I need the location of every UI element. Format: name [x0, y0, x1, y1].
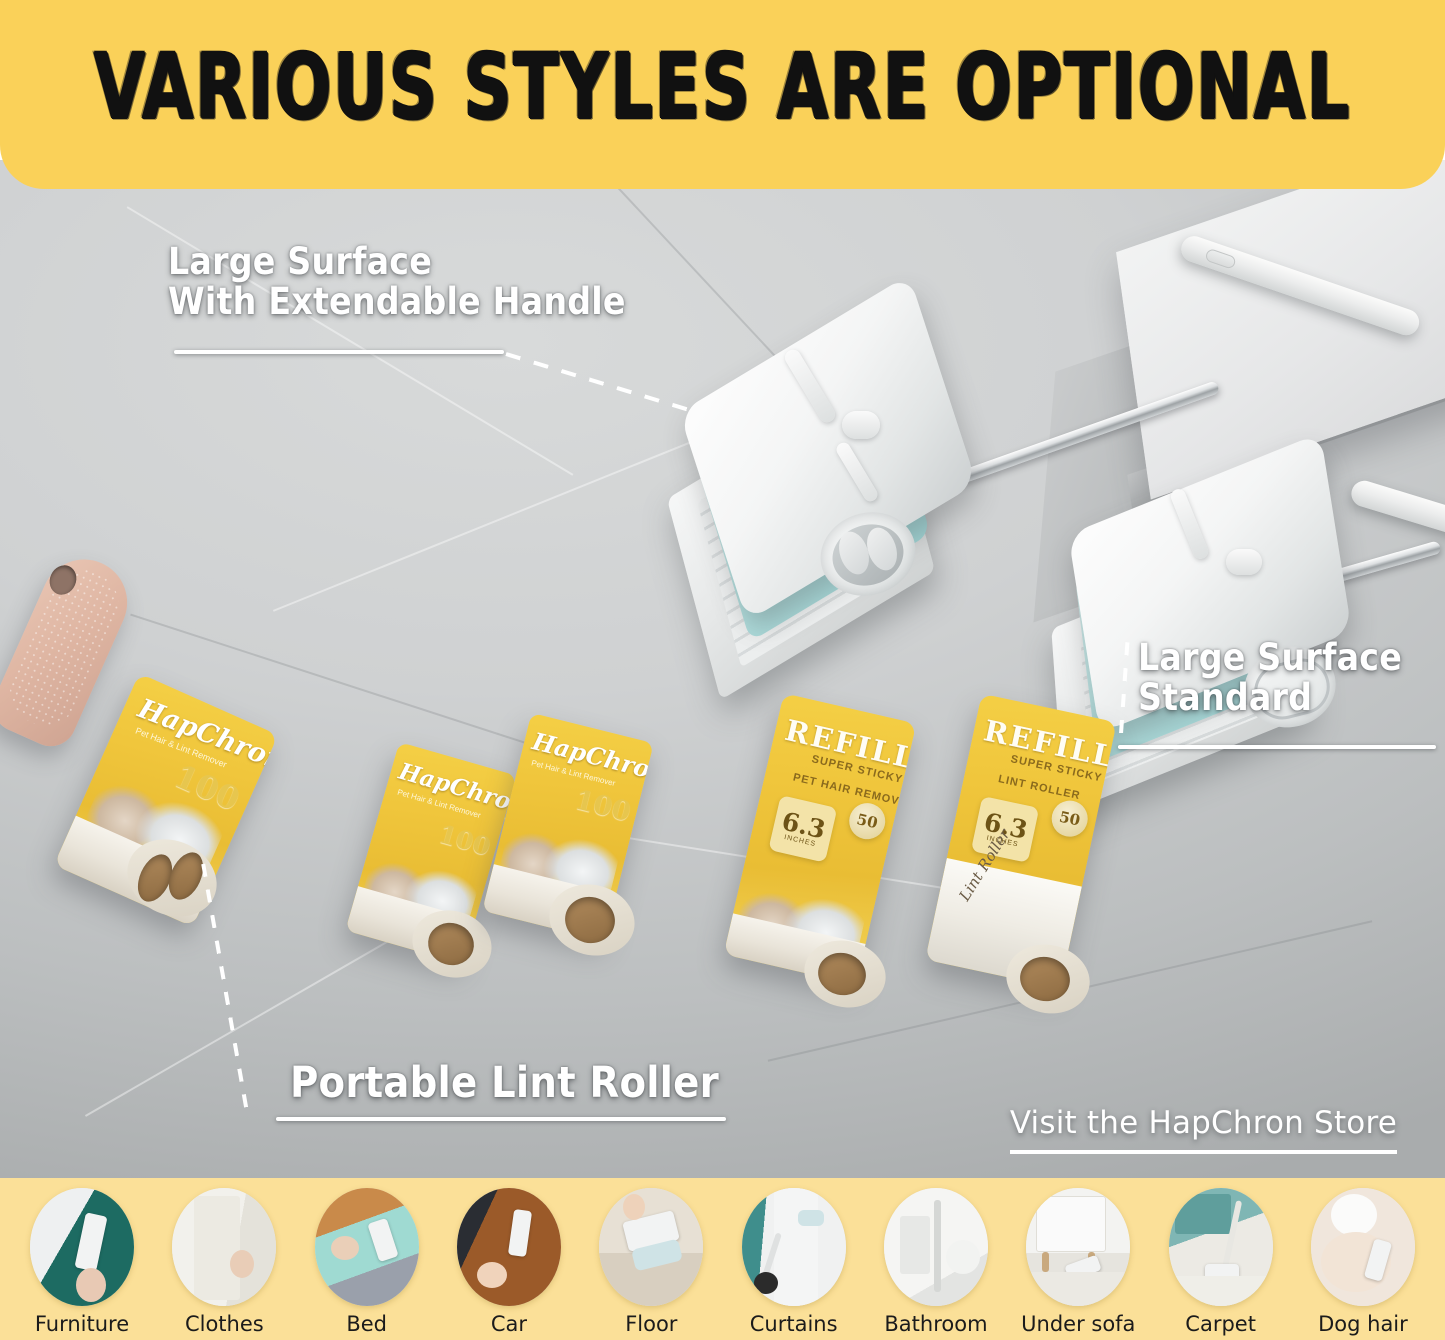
roller-rod-mount — [842, 411, 880, 439]
callout-leader-line — [505, 352, 697, 414]
use-case-dog-hair[interactable]: Dog hair — [1297, 1188, 1429, 1336]
product-infographic: HapChron Pet Hair & Lint Remover 100 Hap… — [0, 0, 1445, 1340]
use-case-under-sofa[interactable]: Under sofa — [1012, 1188, 1144, 1336]
under-sofa-thumbnail — [1026, 1188, 1130, 1306]
refill-body: REFILL SUPER STICKY LINT ROLLER 6.3 INCH… — [925, 694, 1117, 989]
use-case-label: Under sofa — [1021, 1312, 1135, 1336]
use-case-label: Clothes — [185, 1312, 264, 1336]
roller-rod-mount — [1226, 549, 1262, 575]
use-case-label: Furniture — [35, 1312, 129, 1336]
refill-sheet-count: 50 — [855, 810, 879, 832]
sheet-count-badge: 100 — [572, 784, 634, 828]
use-case-car[interactable]: Car — [443, 1188, 575, 1336]
page-title: VARIOUS STYLES ARE OPTIONAL — [22, 34, 1424, 139]
callout-line-2: With Extendable Handle — [168, 282, 626, 322]
use-case-label: Curtains — [750, 1312, 838, 1336]
callout-line-2: Standard — [1138, 678, 1402, 718]
header-banner: VARIOUS STYLES ARE OPTIONAL — [0, 0, 1445, 189]
refill-sheet-count: 50 — [1058, 808, 1082, 830]
bathroom-thumbnail — [884, 1188, 988, 1306]
large-surface-roller-extendable — [672, 335, 1002, 665]
bed-thumbnail — [315, 1188, 419, 1306]
callout-line-1: Portable Lint Roller — [290, 1060, 719, 1106]
use-case-label: Carpet — [1185, 1312, 1256, 1336]
refill-sheet-count-badge: 50 — [846, 800, 889, 843]
use-case-bed[interactable]: Bed — [301, 1188, 433, 1336]
use-case-bathroom[interactable]: Bathroom — [870, 1188, 1002, 1336]
use-case-strip: Furniture Clothes Bed Car — [0, 1178, 1445, 1340]
carpet-thumbnail — [1169, 1188, 1273, 1306]
callout-underline — [1118, 745, 1436, 749]
use-case-label: Dog hair — [1318, 1312, 1408, 1336]
hapchron-refill-roll-2: HapChron Pet Hair & Lint Remover 100 — [505, 725, 705, 1005]
portable-lint-roller: HapChron Pet Hair & Lint Remover 100 — [8, 555, 308, 905]
use-case-clothes[interactable]: Clothes — [158, 1188, 290, 1336]
dog-hair-thumbnail — [1311, 1188, 1415, 1306]
callout-underline — [174, 350, 504, 354]
use-case-label: Bathroom — [884, 1312, 987, 1336]
callout-underline — [276, 1117, 726, 1121]
use-case-curtains[interactable]: Curtains — [728, 1188, 860, 1336]
refill-body: REFILL SUPER STICKY PET HAIR REMOVER 6.3… — [724, 693, 917, 985]
callout-line-1: Large Surface — [1138, 638, 1402, 678]
callout-large-surface-extendable: Large Surface With Extendable Handle — [168, 242, 626, 322]
clothes-thumbnail — [172, 1188, 276, 1306]
store-link[interactable]: Visit the HapChron Store — [1010, 1105, 1397, 1154]
use-case-label: Bed — [346, 1312, 387, 1336]
use-case-label: Car — [491, 1312, 527, 1336]
use-case-carpet[interactable]: Carpet — [1155, 1188, 1287, 1336]
handle-release-button — [1204, 248, 1237, 270]
car-thumbnail — [457, 1188, 561, 1306]
curtains-thumbnail — [742, 1188, 846, 1306]
use-case-furniture[interactable]: Furniture — [16, 1188, 148, 1336]
sheet-count-badge: 100 — [436, 819, 494, 861]
callout-large-surface-standard: Large Surface Standard — [1138, 638, 1402, 718]
floor-thumbnail — [599, 1188, 703, 1306]
refill-cylinder-2: REFILL SUPER STICKY LINT ROLLER 6.3 INCH… — [952, 705, 1202, 1035]
product-photo-stage: HapChron Pet Hair & Lint Remover 100 Hap… — [0, 160, 1445, 1178]
furniture-thumbnail — [30, 1188, 134, 1306]
use-case-label: Floor — [625, 1312, 677, 1336]
callout-line-1: Large Surface — [168, 242, 626, 282]
callout-portable-lint-roller: Portable Lint Roller — [290, 1060, 719, 1106]
refill-size-badge: 6.3 INCHES — [768, 795, 837, 863]
refill-sheet-count-badge: 50 — [1048, 797, 1091, 840]
use-case-floor[interactable]: Floor — [585, 1188, 717, 1336]
